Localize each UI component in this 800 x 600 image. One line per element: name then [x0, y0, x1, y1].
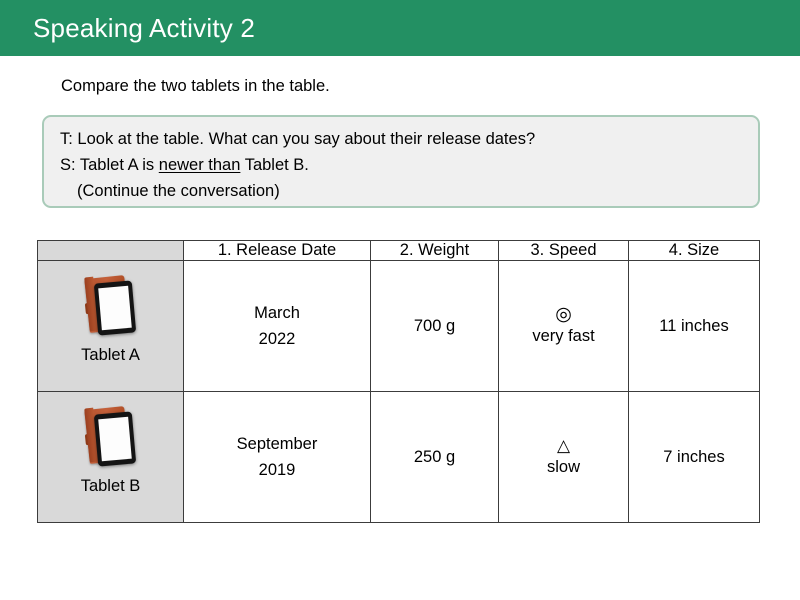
cell-weight-tablet-a: 700 g [371, 261, 499, 392]
dialogue-box: T: Look at the table. What can you say a… [42, 115, 760, 208]
dialogue-line-teacher: T: Look at the table. What can you say a… [44, 126, 758, 152]
header-band: Speaking Activity 2 [0, 0, 800, 56]
comparison-table: 1. Release Date 2. Weight 3. Speed 4. Si… [37, 240, 760, 523]
dialogue-student-prefix: S: Tablet A is [60, 156, 159, 174]
release-date-year: 2022 [184, 326, 370, 352]
cell-speed-tablet-a: ◎ very fast [499, 261, 629, 392]
table-header-size: 4. Size [629, 241, 760, 261]
dialogue-student-suffix: Tablet B. [240, 156, 309, 174]
release-date-year: 2019 [184, 457, 370, 483]
tablet-icon [80, 271, 142, 341]
tablet-icon [80, 402, 142, 472]
cell-weight-tablet-b: 250 g [371, 392, 499, 523]
triangle-icon: △ [557, 436, 570, 456]
dialogue-line-student: S: Tablet A is newer than Tablet B. [44, 152, 758, 178]
row-label-tablet-b: Tablet B [81, 476, 141, 496]
instruction-text: Compare the two tablets in the table. [61, 75, 330, 97]
cell-speed-tablet-b: △ slow [499, 392, 629, 523]
table-header-release-date: 1. Release Date [184, 241, 371, 261]
table-header-weight: 2. Weight [371, 241, 499, 261]
row-label-cell-tablet-b: Tablet B [38, 392, 184, 523]
cell-release-date-tablet-b: September 2019 [184, 392, 371, 523]
table-header-speed: 3. Speed [499, 241, 629, 261]
table-header-row: 1. Release Date 2. Weight 3. Speed 4. Si… [38, 241, 760, 261]
cell-size-tablet-b: 7 inches [629, 392, 760, 523]
speed-word-tablet-b: slow [547, 456, 580, 478]
release-date-month: September [184, 431, 370, 457]
cell-release-date-tablet-a: March 2022 [184, 261, 371, 392]
page-title: Speaking Activity 2 [33, 12, 255, 44]
dialogue-student-keyphrase: newer than [159, 156, 241, 174]
dialogue-line-continue: (Continue the conversation) [44, 178, 758, 204]
table-header-corner [38, 241, 184, 261]
row-label-tablet-a: Tablet A [81, 345, 140, 365]
cell-size-tablet-a: 11 inches [629, 261, 760, 392]
row-label-cell-tablet-a: Tablet A [38, 261, 184, 392]
speed-word-tablet-a: very fast [532, 325, 594, 347]
release-date-month: March [184, 300, 370, 326]
table-row: Tablet A March 2022 700 g ◎ very fast 11… [38, 261, 760, 392]
table-row: Tablet B September 2019 250 g △ slow 7 i… [38, 392, 760, 523]
double-circle-icon: ◎ [555, 305, 572, 325]
